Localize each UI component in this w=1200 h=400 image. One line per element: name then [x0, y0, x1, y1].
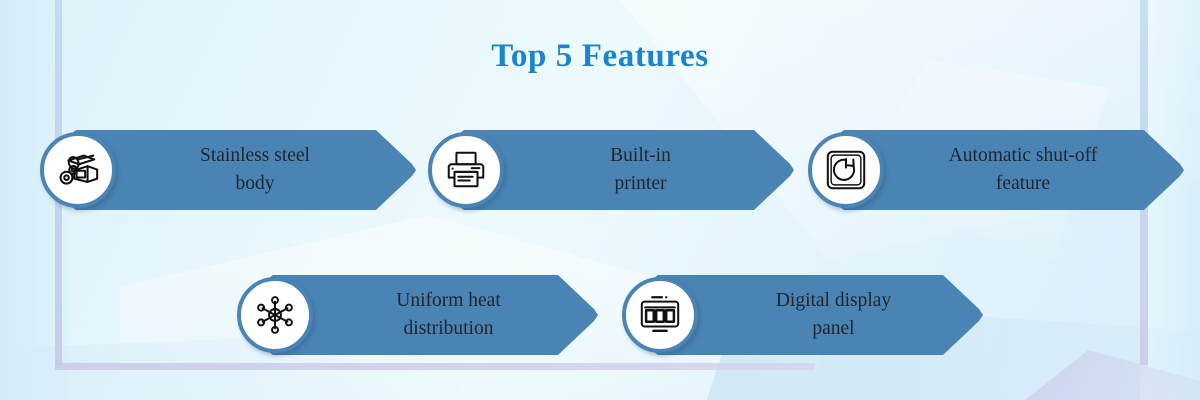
background-shape-corner-accent: [1000, 350, 1200, 400]
feature-item-built-in-printer[interactable]: Built-in printer: [428, 130, 798, 210]
feature-item-digital-display-panel[interactable]: Digital display panel: [622, 275, 987, 355]
heat-distribution-network-icon: [237, 277, 313, 353]
digital-display-panel-icon: [622, 277, 698, 353]
feature-item-automatic-shut-off[interactable]: Automatic shut-off feature: [808, 130, 1188, 210]
printer-icon: [428, 132, 504, 208]
page-title: Top 5 Features: [0, 38, 1200, 75]
features-infographic: Top 5 Features Stainless steel body Buil…: [0, 0, 1200, 400]
feature-item-uniform-heat-distribution[interactable]: Uniform heat distribution: [237, 275, 602, 355]
frame-line-bottom: [55, 363, 815, 370]
power-auto-shutoff-icon: [808, 132, 884, 208]
feature-item-stainless-steel-body[interactable]: Stainless steel body: [40, 130, 420, 210]
steel-pipes-icon: [40, 132, 116, 208]
